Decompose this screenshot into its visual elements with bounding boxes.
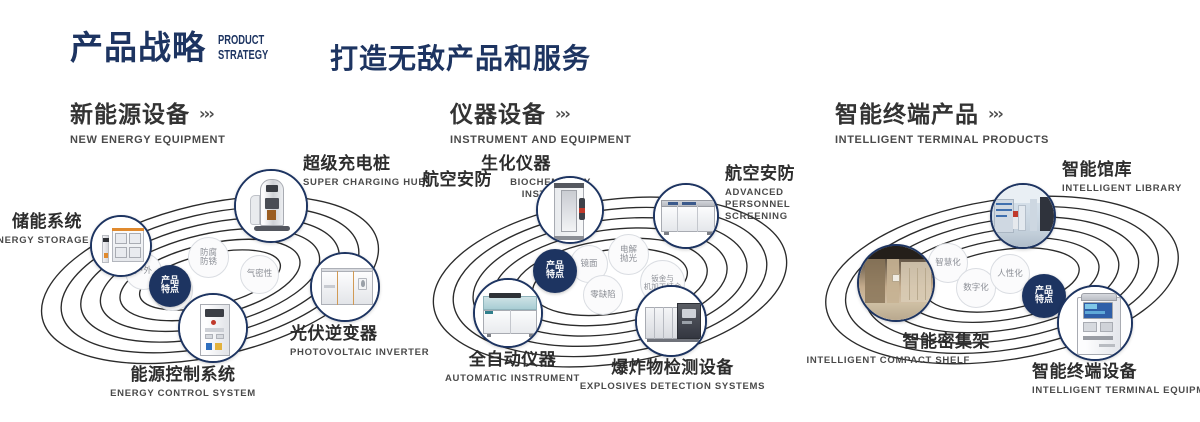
center-bubble-line2: 特点 [161,286,179,295]
product-label-energy-storage: 储能系统 ENERGY STORAGE SYSTEM [0,212,82,247]
center-bubble-line2: 特点 [1035,296,1053,305]
page-title-english: PRODUCT STRATEGY [218,32,274,62]
cluster-instrument: 镜面 电解 抛光 零缺陷 钣金与 机加工结合 产品 特点 航空安防 [405,150,815,410]
center-bubble-line2: 特点 [546,271,564,280]
feature-bubble-line1: 智慧化 [935,259,961,268]
screening-machine-icon [655,185,717,247]
product-label-en: INTELLIGENT COMPACT SHELF [800,355,970,367]
product-label-cn: 航空安防 [402,170,492,191]
product-circle-screening[interactable] [653,183,719,249]
chevron-right-arrows-icon: ››› [199,104,213,123]
feature-bubble-line1: 人性化 [997,270,1023,279]
section-title-cn-text: 仪器设备 [450,102,546,128]
product-circle-charging-hub[interactable] [234,169,308,243]
chevron-right-arrows-icon: ››› [988,104,1002,123]
product-label-terminal-equipment: 智能终端设备 INTELLIGENT TERMINAL EQUIPMENT [1032,362,1200,397]
biochemistry-analyzer-icon [538,178,602,242]
feature-bubble-line1: 气密性 [247,270,273,279]
product-circle-energy-storage[interactable] [90,215,152,277]
product-circle-terminal-equipment[interactable] [1057,285,1133,361]
product-label-cn: 智能馆库 [1062,160,1200,181]
section-title-cn: 新能源设备››› [70,95,225,129]
product-circle-pv-inverter[interactable] [310,252,380,322]
product-label-cn: 爆炸物检测设备 [575,358,770,379]
product-circle-biochemistry[interactable] [536,176,604,244]
cluster-new-energy: 防腐 防锈 户外 防水 防尘 气密性 产品 特点 [0,150,420,410]
cluster-intelligent-terminal: 智慧化 数字化 人性化 产品 特点 [810,150,1200,410]
automatic-instrument-icon [475,280,541,346]
compact-shelf-icon [859,246,933,320]
poster-root: 产品战略 PRODUCT STRATEGY 打造无敌产品和服务 新能源设备›››… [0,0,1200,422]
product-label-aviation-security: 航空安防 [402,170,492,191]
section-title-cn: 仪器设备››› [450,95,631,129]
section-title-cn-text: 新能源设备 [70,102,190,128]
feature-bubble-line1: 零缺陷 [590,291,616,300]
product-label-cn: 智能密集架 [800,332,990,353]
product-label-cn: 能源控制系统 [78,365,288,386]
tagline: 打造无敌产品和服务 [330,37,591,77]
chevron-right-arrows-icon: ››› [555,104,569,123]
product-label-automatic-instrument: 全自动仪器 AUTOMATIC INSTRUMENT [425,350,600,385]
section-title-cn-text: 智能终端产品 [835,102,979,128]
product-label-en: ENERGY STORAGE SYSTEM [0,235,82,247]
product-label-cn: 储能系统 [0,212,82,233]
section-heading-instrument: 仪器设备››› INSTRUMENT AND EQUIPMENT [450,95,631,146]
feature-bubble-anticorrosion: 防腐 防锈 [188,237,229,278]
product-label-en: INTELLIGENT TERMINAL EQUIPMENT [1032,385,1200,397]
product-label-en: AUTOMATIC INSTRUMENT [425,373,600,385]
explosives-detector-icon [637,287,705,355]
product-label-cn: 生化仪器 [481,154,601,175]
page-title-english-line2: STRATEGY [218,47,274,62]
control-cabinet-icon [180,295,246,361]
page-title-english-line1: PRODUCT [218,32,274,47]
product-circle-intelligent-library[interactable] [990,183,1056,249]
product-label-cn: 智能终端设备 [1032,362,1200,383]
feature-bubble-line2: 防锈 [200,258,217,267]
product-label-intelligent-library: 智能馆库 INTELLIGENT LIBRARY [1062,160,1200,195]
product-label-en: INTELLIGENT LIBRARY [1062,183,1200,195]
energy-storage-cabinet-icon [92,217,150,275]
section-heading-intelligent-terminal: 智能终端产品››› INTELLIGENT TERMINAL PRODUCTS [835,95,1049,146]
feature-bubble-line1: 镜面 [580,260,597,269]
product-label-en: EXPLOSIVES DETECTION SYSTEMS [575,381,770,393]
section-title-cn: 智能终端产品››› [835,95,1049,129]
feature-bubble-line1: 数字化 [963,284,989,293]
feature-bubble-electro-polishing: 电解 抛光 [608,234,649,275]
feature-bubble-airtightness: 气密性 [240,255,279,294]
product-label-energy-control: 能源控制系统 ENERGY CONTROL SYSTEM [78,365,288,400]
product-label-explosives-detection: 爆炸物检测设备 EXPLOSIVES DETECTION SYSTEMS [575,358,770,393]
feature-bubble-line2: 抛光 [620,255,637,264]
section-heading-new-energy: 新能源设备››› NEW ENERGY EQUIPMENT [70,95,225,146]
product-circle-energy-control[interactable] [178,293,248,363]
page-title: 产品战略 [70,28,206,68]
product-label-compact-shelf: 智能密集架 INTELLIGENT COMPACT SHELF [800,332,990,367]
section-title-en: NEW ENERGY EQUIPMENT [70,134,225,146]
product-label-cn: 全自动仪器 [425,350,600,371]
feature-bubble-zero-defect: 零缺陷 [583,275,623,315]
pv-inverter-cabinet-icon [312,254,378,320]
self-service-kiosk-icon [1059,287,1131,359]
product-circle-automatic-instrument[interactable] [473,278,543,348]
product-label-en: ENERGY CONTROL SYSTEM [78,388,288,400]
section-title-en: INSTRUMENT AND EQUIPMENT [450,134,631,146]
section-title-en: INTELLIGENT TERMINAL PRODUCTS [835,134,1049,146]
header: 产品战略 PRODUCT STRATEGY 打造无敌产品和服务 [0,0,1200,92]
library-room-icon [992,185,1054,247]
charging-pile-icon [236,171,306,241]
product-circle-compact-shelf[interactable] [857,244,935,322]
product-circle-explosives-detection[interactable] [635,285,707,357]
